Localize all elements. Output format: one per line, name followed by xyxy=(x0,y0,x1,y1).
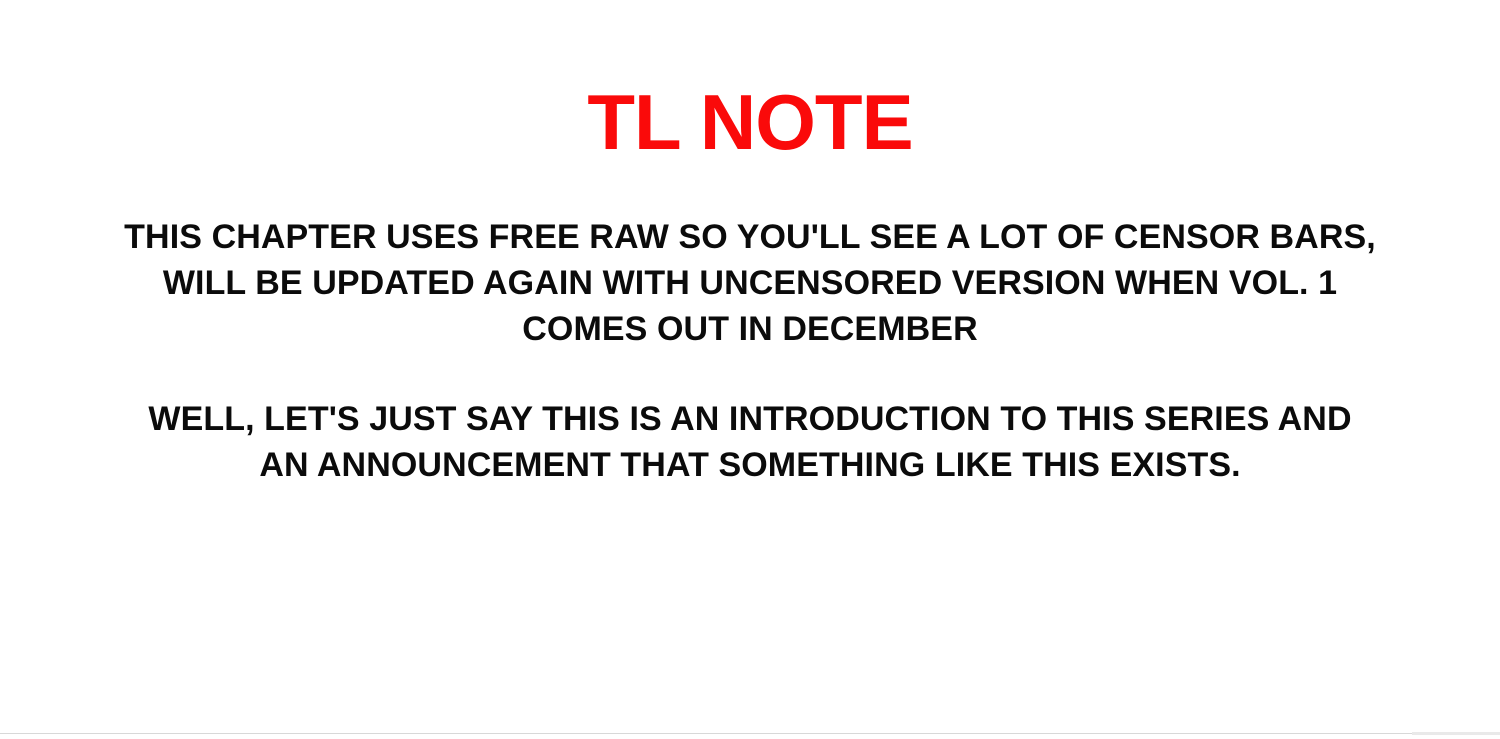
note-line: WILL BE UPDATED AGAIN WITH UNCENSORED VE… xyxy=(50,260,1450,306)
note-line: COMES OUT IN DECEMBER xyxy=(50,306,1450,352)
tl-note-page: TL NOTE THIS CHAPTER USES FREE RAW SO YO… xyxy=(0,0,1500,739)
page-title: TL NOTE xyxy=(0,74,1500,170)
paragraph-spacer xyxy=(50,352,1450,396)
note-body: THIS CHAPTER USES FREE RAW SO YOU'LL SEE… xyxy=(50,214,1450,488)
bottom-divider-segment xyxy=(1412,732,1500,735)
bottom-divider xyxy=(0,733,1500,734)
note-paragraph-1: THIS CHAPTER USES FREE RAW SO YOU'LL SEE… xyxy=(50,214,1450,352)
note-line: AN ANNOUNCEMENT THAT SOMETHING LIKE THIS… xyxy=(50,442,1450,488)
note-paragraph-2: WELL, LET'S JUST SAY THIS IS AN INTRODUC… xyxy=(50,396,1450,488)
note-line: THIS CHAPTER USES FREE RAW SO YOU'LL SEE… xyxy=(50,214,1450,260)
note-line: WELL, LET'S JUST SAY THIS IS AN INTRODUC… xyxy=(50,396,1450,442)
